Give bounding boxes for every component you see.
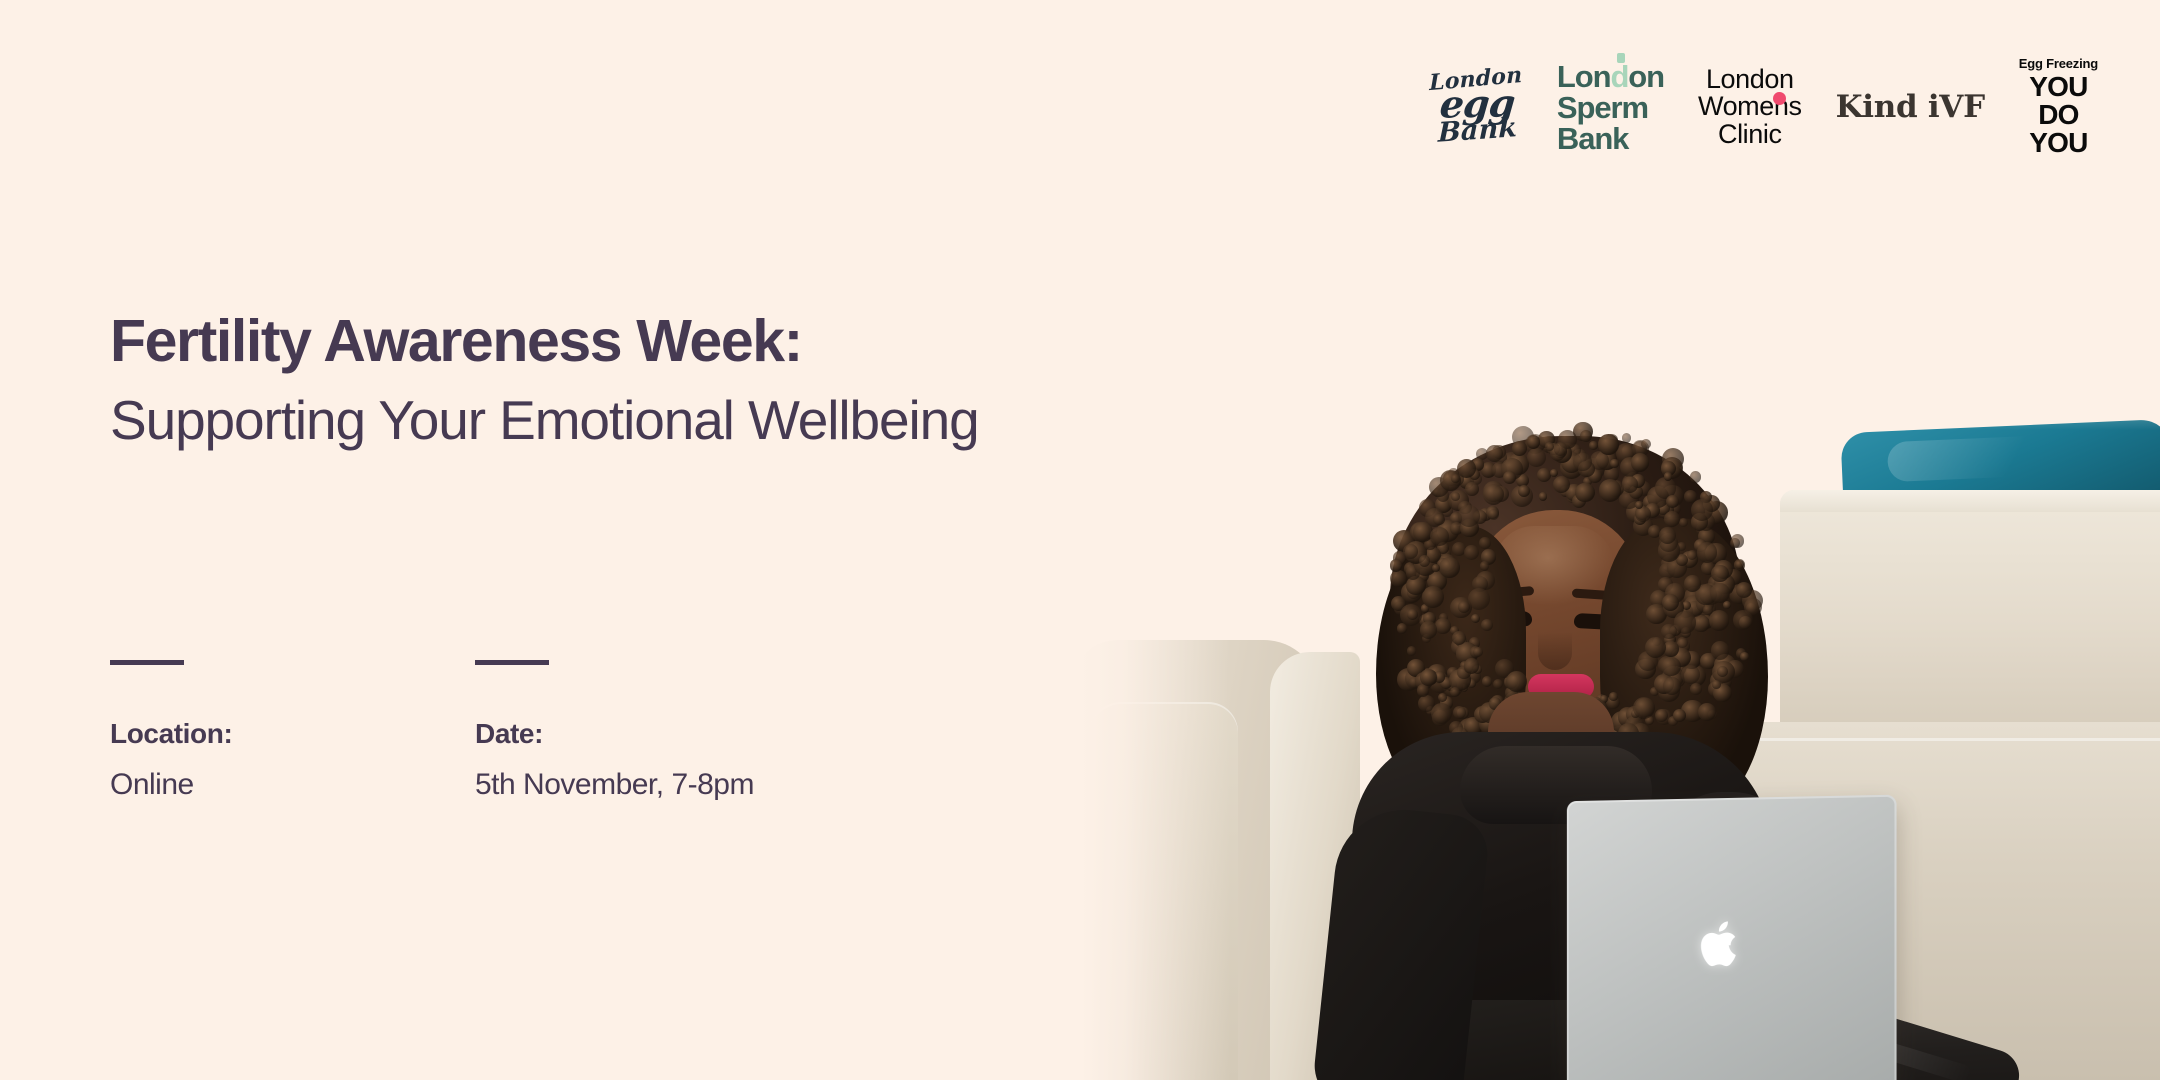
logo-lsb-line1-c: on — [1628, 61, 1664, 92]
logo-london-sperm-bank[interactable]: London Sperm Bank — [1557, 61, 1664, 154]
hair-curl — [1417, 684, 1430, 697]
detail-rule-location — [110, 660, 184, 665]
date-value: 5th November, 7-8pm — [475, 770, 840, 800]
hair-curl — [1420, 621, 1437, 638]
detail-date: Date: 5th November, 7-8pm — [475, 660, 840, 800]
logo-ydy-kicker: Egg Freezing — [2019, 57, 2098, 70]
event-details: Location: Online Date: 5th November, 7-8… — [110, 660, 840, 800]
hair-curl — [1635, 501, 1643, 509]
hair-curl — [1506, 671, 1527, 692]
hair-curl — [1527, 448, 1546, 467]
hair-curl — [1539, 492, 1547, 500]
logo-lsb-line1: London — [1557, 61, 1664, 92]
hair-curl — [1464, 658, 1479, 673]
hair-curl — [1575, 483, 1594, 502]
location-label: Location: — [110, 720, 475, 748]
logo-lsb-line3: Bank — [1557, 123, 1628, 154]
hair-curl — [1641, 439, 1651, 449]
hair-curl — [1481, 619, 1493, 631]
hair-curl — [1527, 435, 1541, 449]
hair-curl — [1464, 545, 1480, 561]
hair-curl — [1655, 709, 1668, 722]
logo-leb-line3: Bank — [1437, 117, 1517, 147]
hair-curl — [1465, 482, 1479, 496]
hero-photo — [1080, 340, 2160, 1080]
logo-london-womens-clinic[interactable]: London Womens Clinic — [1698, 66, 1802, 149]
logo-lwc-line2: Womens — [1698, 93, 1802, 121]
hair-curl — [1419, 555, 1430, 566]
hair-curl — [1450, 687, 1460, 697]
hair-curl — [1407, 646, 1416, 655]
hair-curl — [1690, 471, 1702, 483]
hair-curl — [1431, 703, 1452, 724]
logo-lwc-line3: Clinic — [1718, 121, 1782, 149]
hair-curl — [1610, 459, 1618, 467]
hair-curl — [1486, 445, 1503, 462]
hair-curl — [1483, 484, 1504, 505]
hair-curl — [1493, 679, 1503, 689]
hair-curl — [1709, 610, 1729, 630]
hair-curl — [1599, 479, 1621, 501]
hair-curl — [1479, 537, 1491, 549]
hair-curl — [1735, 560, 1744, 569]
logo-egg-freezing-you-do-you[interactable]: Egg Freezing YOU DO YOU — [2019, 57, 2098, 157]
hair-curl — [1458, 505, 1480, 527]
logo-london-egg-bank[interactable]: London egg Bank — [1428, 68, 1524, 146]
hair-curl — [1422, 586, 1444, 608]
detail-rule-date — [475, 660, 549, 665]
hair-curl — [1730, 538, 1739, 547]
hair-curl — [1537, 468, 1551, 482]
hair-curl — [1712, 680, 1721, 689]
hair-curl — [1473, 647, 1483, 657]
seated-woman — [1080, 340, 2160, 1080]
logo-ydy-line3: YOU — [2029, 129, 2087, 157]
hair-curl — [1471, 614, 1480, 623]
hair-curl — [1690, 683, 1702, 695]
hair-curl — [1740, 652, 1749, 661]
hair-curl — [1390, 559, 1403, 572]
hair-curl — [1609, 692, 1618, 701]
detail-location: Location: Online — [110, 660, 475, 800]
logo-lsb-line1-b: d — [1610, 61, 1628, 92]
hair-curl — [1512, 441, 1527, 456]
hair-curl — [1710, 583, 1730, 603]
hair-curl — [1659, 527, 1676, 544]
hair-curl — [1468, 588, 1491, 611]
hair-curl — [1503, 471, 1517, 485]
apple-logo-icon — [1698, 918, 1744, 970]
location-value: Online — [110, 770, 475, 800]
hair-curl — [1451, 492, 1460, 501]
hair-curl — [1452, 631, 1466, 645]
logo-kind-ivf[interactable]: Kind iVF — [1836, 89, 1985, 125]
hair-curl — [1488, 509, 1500, 521]
event-banner: London egg Bank London Sperm Bank London… — [0, 0, 2160, 1080]
hair-curl — [1664, 472, 1672, 480]
hair-curl — [1679, 518, 1688, 527]
hair-curl — [1432, 564, 1440, 572]
event-title-line1: Fertility Awareness Week: — [110, 312, 979, 371]
hair-curl — [1666, 495, 1679, 508]
logo-kivf-text: Kind iVF — [1836, 89, 1985, 125]
hair-curl — [1580, 430, 1592, 442]
event-subtitle: Supporting Your Emotional Wellbeing — [110, 393, 979, 448]
hair-curl — [1420, 669, 1437, 686]
logo-ydy-line1: YOU — [2029, 73, 2087, 101]
hair-curl — [1711, 641, 1729, 659]
hair-curl — [1589, 441, 1597, 449]
hair-curl — [1622, 433, 1631, 442]
hair-curl — [1698, 703, 1716, 721]
hair-curl — [1430, 527, 1449, 546]
hair-curl — [1482, 676, 1493, 687]
logo-lsb-line2: Sperm — [1557, 92, 1648, 123]
hair-curl — [1645, 637, 1666, 658]
hair-curl — [1573, 453, 1592, 472]
hair-curl — [1733, 610, 1753, 630]
logo-ydy-line2: DO — [2038, 101, 2078, 129]
arm-left — [1311, 803, 1492, 1080]
hair-curl — [1407, 609, 1418, 620]
hair-curl — [1631, 453, 1650, 472]
date-label: Date: — [475, 720, 840, 748]
event-title-block: Fertility Awareness Week: Supporting You… — [110, 312, 979, 448]
hair-curl — [1664, 511, 1681, 528]
hair-curl — [1622, 476, 1638, 492]
hair-curl — [1736, 582, 1752, 598]
hair-curl — [1697, 542, 1717, 562]
hair-curl — [1550, 469, 1558, 477]
partner-logo-bar: London egg Bank London Sperm Bank London… — [1430, 52, 2098, 162]
hair-curl — [1598, 434, 1619, 455]
logo-lwc-line1: London — [1706, 66, 1794, 94]
hair-curl — [1403, 544, 1418, 559]
hair-curl — [1433, 514, 1445, 526]
hair-curl — [1439, 557, 1460, 578]
pink-dot-icon — [1773, 92, 1786, 105]
hair-curl — [1673, 709, 1686, 722]
hair-curl — [1703, 605, 1713, 615]
hair-curl — [1435, 618, 1451, 634]
hair-curl — [1480, 561, 1490, 571]
hair-curl — [1677, 637, 1688, 648]
logo-lsb-line1-a: Lon — [1557, 61, 1611, 92]
